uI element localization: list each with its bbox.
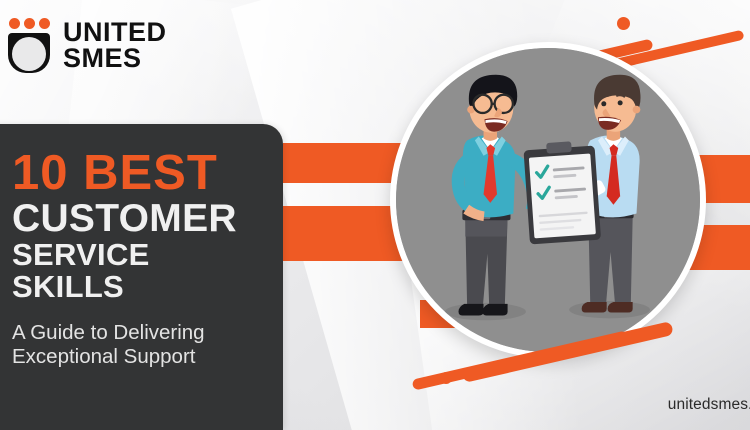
headline-line3: SERVICE SKILLS	[12, 239, 265, 303]
title-card: 10 BEST CUSTOMER SERVICE SKILLS A Guide …	[0, 124, 283, 430]
united-smes-logo-mark-icon	[8, 18, 50, 73]
logo-dots	[9, 18, 50, 29]
decor-dot-bottom	[440, 372, 452, 384]
headline-line2: CUSTOMER	[12, 199, 265, 239]
subtitle-line2: Exceptional Support	[12, 345, 265, 369]
decor-dot-top	[617, 17, 630, 30]
poster-canvas: UNITED SMES	[0, 0, 750, 430]
headline-number: 10 BEST	[12, 150, 265, 197]
brand-wordmark: UNITED SMES	[63, 20, 167, 70]
website-url[interactable]: unitedsmes.i	[668, 396, 750, 414]
illustration-circle	[390, 42, 706, 358]
brand-name-line2: SMES	[63, 46, 167, 71]
logo-circle-cutout	[12, 37, 46, 71]
subtitle-line1: A Guide to Delivering	[12, 321, 265, 345]
brand-logo[interactable]: UNITED SMES	[8, 18, 167, 73]
brand-name-line1: UNITED	[63, 20, 167, 45]
subtitle: A Guide to Delivering Exceptional Suppor…	[12, 321, 265, 369]
